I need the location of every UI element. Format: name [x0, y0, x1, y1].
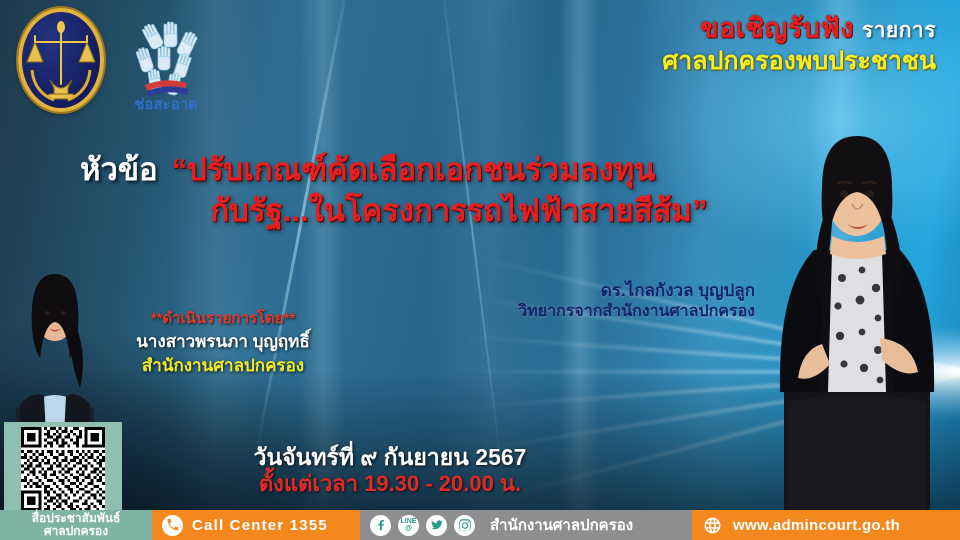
program-name: ศาลปกครองพบประชาชน — [662, 48, 936, 75]
header-block: ขอเชิญรับฟัง รายการ ศาลปกครองพบประชาชน — [662, 14, 936, 75]
invite-white-text: รายการ — [862, 19, 936, 42]
topic-block: หัวข้อ “ปรับเกณฑ์คัดเลือกเอกชนร่วมลงทุน … — [80, 152, 780, 229]
twitter-icon[interactable] — [426, 515, 447, 536]
speaker-photo — [762, 92, 952, 512]
line-sub: @ — [405, 525, 412, 532]
website-url: www.admincourt.go.th — [733, 517, 900, 534]
court-emblem-logo — [18, 8, 104, 112]
social-section: LINE @ สำนักงานศาลปกครอง — [360, 510, 692, 540]
qr-code-block[interactable] — [4, 422, 122, 518]
social-label: สำนักงานศาลปกครอง — [490, 513, 633, 537]
footer-brand: สื่อประชาสัมพันธ์ ศาลปกครอง — [0, 510, 152, 540]
qr-code-image[interactable] — [9, 427, 117, 511]
facebook-icon[interactable] — [370, 515, 391, 536]
speaker-block: ดร.ไกลกังวล บุญปลูก วิทยากรจากสำนักงานศา… — [518, 280, 755, 323]
invite-red-text: ขอเชิญรับฟัง — [700, 13, 854, 43]
globe-icon — [702, 515, 723, 536]
host-name: นางสาวพรนภา บุญฤทธิ์ — [108, 330, 338, 355]
topic-label: หัวข้อ — [80, 152, 158, 189]
topic-line-2: กับรัฐ...ในโครงการรถไฟฟ้าสายสีส้ม” — [80, 193, 780, 230]
speaker-role: วิทยากรจากสำนักงานศาลปกครอง — [518, 302, 755, 323]
line-label: LINE — [401, 518, 417, 525]
topic-line-1: “ปรับเกณฑ์คัดเลือกเอกชนร่วมลงทุน — [172, 152, 656, 189]
call-center-section[interactable]: Call Center 1355 — [152, 510, 360, 540]
broadcast-date: วันจันทร์ที่ ๙ กันยายน 2567 — [190, 443, 590, 471]
anti-corruption-label: ช่อสะอาด — [134, 96, 198, 112]
footer-bar: สื่อประชาสัมพันธ์ ศาลปกครอง Call Center … — [0, 510, 960, 540]
call-center-label: Call Center 1355 — [192, 517, 328, 534]
host-organization: สำนักงานศาลปกครอง — [108, 354, 338, 379]
host-block: **ดำเนินรายการโดย** นางสาวพรนภา บุญฤทธิ์… — [108, 308, 338, 379]
schedule-block: วันจันทร์ที่ ๙ กันยายน 2567 ตั้งแต่เวลา … — [190, 443, 590, 498]
broadcast-time: ตั้งแต่เวลา 19.30 - 20.00 น. — [190, 471, 590, 498]
anti-corruption-logo: ช่อสะอาด — [112, 14, 222, 112]
speaker-name: ดร.ไกลกังวล บุญปลูก — [518, 280, 755, 302]
promo-poster: ช่อสะอาด ขอเชิญรับฟัง รายการ ศาลปกครองพบ… — [0, 0, 960, 540]
line-icon[interactable]: LINE @ — [398, 515, 419, 536]
website-section[interactable]: www.admincourt.go.th — [692, 510, 960, 540]
invite-line: ขอเชิญรับฟัง รายการ — [662, 14, 936, 43]
instagram-icon[interactable] — [454, 515, 475, 536]
host-label: **ดำเนินรายการโดย** — [108, 308, 338, 330]
footer-brand-line2: ศาลปกครอง — [44, 525, 108, 538]
phone-icon — [162, 515, 183, 536]
